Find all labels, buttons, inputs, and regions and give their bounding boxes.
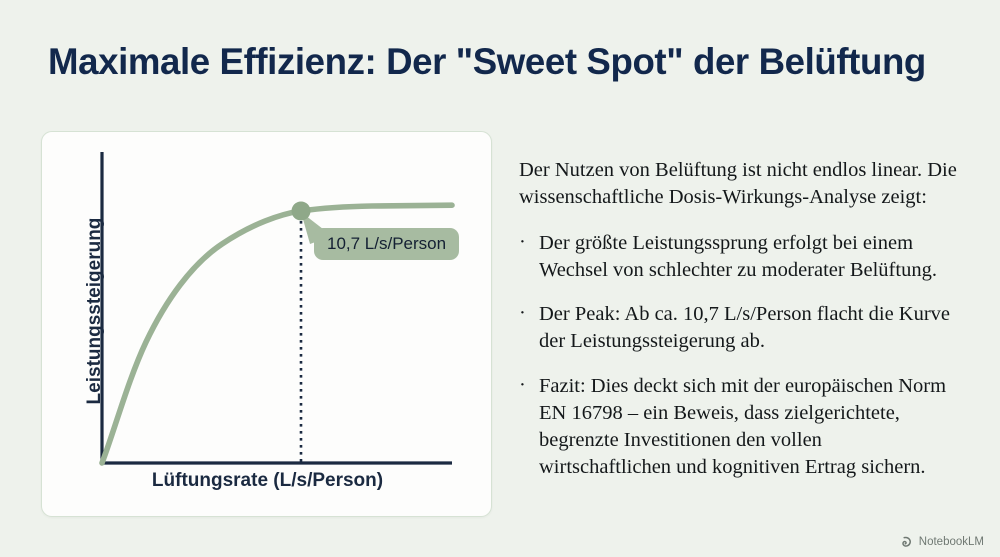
watermark-label: NotebookLM <box>919 536 984 548</box>
notebooklm-logo-icon <box>902 536 914 548</box>
list-item-text: Fazit: Dies deckt sich mit der europäisc… <box>539 375 946 479</box>
sweet-spot-dot <box>292 202 311 221</box>
list-item-text: Der Peak: Ab ca. 10,7 L/s/Person flacht … <box>539 303 950 352</box>
bullet-marker: · <box>519 300 526 327</box>
list-item-text: Der größte Leistungssprung erfolgt bei e… <box>539 232 937 281</box>
list-item: · Der größte Leistungssprung erfolgt bei… <box>519 230 959 285</box>
bullet-marker: · <box>519 229 526 256</box>
content-column: Der Nutzen von Belüftung ist nicht endlo… <box>519 157 959 482</box>
bullet-marker: · <box>519 372 526 399</box>
list-item: · Der Peak: Ab ca. 10,7 L/s/Person flach… <box>519 301 959 356</box>
slide-root: Maximale Effizienz: Der "Sweet Spot" der… <box>0 0 1000 557</box>
intro-paragraph: Der Nutzen von Belüftung ist nicht endlo… <box>519 157 959 212</box>
page-title: Maximale Effizienz: Der "Sweet Spot" der… <box>48 42 939 83</box>
y-axis-label: Leistungssteigerung <box>84 196 106 426</box>
bullet-list: · Der größte Leistungssprung erfolgt bei… <box>519 230 959 482</box>
chart-card: 10,7 L/s/Person Leistungssteigerung Lüft… <box>41 131 492 517</box>
list-item: · Fazit: Dies deckt sich mit der europäi… <box>519 373 959 482</box>
x-axis-label: Lüftungsrate (L/s/Person) <box>42 470 493 492</box>
sweet-spot-badge: 10,7 L/s/Person <box>314 228 459 260</box>
notebooklm-watermark: NotebookLM <box>902 536 984 548</box>
chart-svg <box>42 132 493 518</box>
